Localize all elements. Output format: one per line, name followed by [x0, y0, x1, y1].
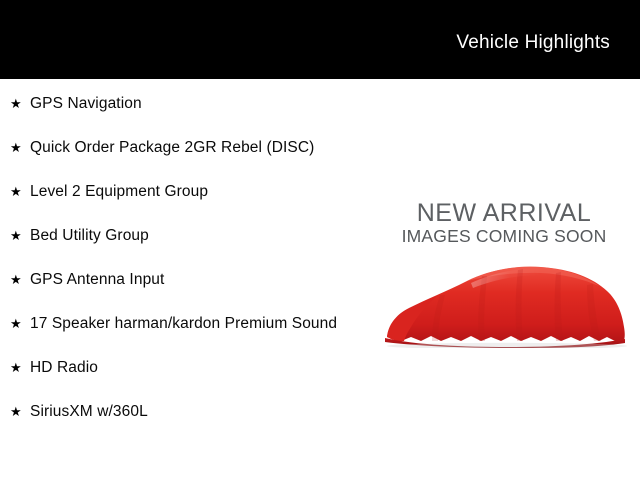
page-title: Vehicle Highlights: [456, 27, 610, 52]
star-bullet-icon: ★: [9, 93, 30, 115]
ground-shadow: [387, 343, 627, 348]
star-bullet-icon: ★: [9, 269, 30, 291]
header-bar: Vehicle Highlights: [0, 0, 640, 79]
covered-car-icon: [375, 253, 633, 348]
list-item: ★ HD Radio: [0, 357, 365, 379]
list-item: ★ Quick Order Package 2GR Rebel (DISC): [0, 137, 365, 159]
star-bullet-icon: ★: [9, 357, 30, 379]
list-item: ★ Level 2 Equipment Group: [0, 181, 365, 203]
highlight-label: Level 2 Equipment Group: [30, 181, 357, 203]
star-bullet-icon: ★: [9, 313, 30, 335]
covered-car-illustration: [375, 253, 633, 348]
highlight-label: GPS Antenna Input: [30, 269, 357, 291]
list-item: ★ GPS Navigation: [0, 93, 365, 115]
highlight-label: HD Radio: [30, 357, 357, 379]
star-bullet-icon: ★: [9, 401, 30, 423]
new-arrival-placeholder: NEW ARRIVAL IMAGES COMING SOON: [375, 200, 633, 360]
highlight-label: Bed Utility Group: [30, 225, 357, 247]
vehicle-highlights-screen: Vehicle Highlights ★ GPS Navigation ★ Qu…: [0, 0, 640, 480]
list-item: ★ SiriusXM w/360L: [0, 401, 365, 423]
star-bullet-icon: ★: [9, 137, 30, 159]
highlight-label: SiriusXM w/360L: [30, 401, 357, 423]
new-arrival-text: NEW ARRIVAL: [375, 200, 633, 227]
star-bullet-icon: ★: [9, 225, 30, 247]
highlight-label: GPS Navigation: [30, 93, 357, 115]
list-item: ★ Bed Utility Group: [0, 225, 365, 247]
images-coming-soon-text: IMAGES COMING SOON: [375, 227, 633, 246]
star-bullet-icon: ★: [9, 181, 30, 203]
vehicle-highlights-list: ★ GPS Navigation ★ Quick Order Package 2…: [0, 79, 365, 445]
list-item: ★ GPS Antenna Input: [0, 269, 365, 291]
highlight-label: 17 Speaker harman/kardon Premium Sound: [30, 313, 357, 335]
list-item: ★ 17 Speaker harman/kardon Premium Sound: [0, 313, 365, 335]
highlight-label: Quick Order Package 2GR Rebel (DISC): [30, 137, 357, 159]
placeholder-caption: NEW ARRIVAL IMAGES COMING SOON: [375, 200, 633, 246]
